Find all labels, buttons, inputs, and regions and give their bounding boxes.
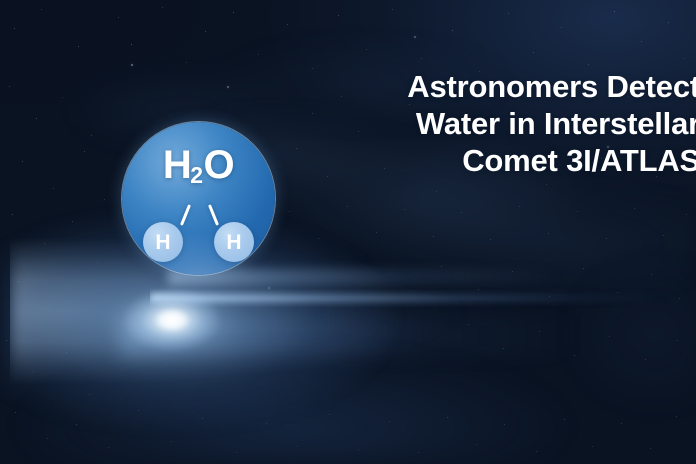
headline-line-3: Comet 3I/ATLAS xyxy=(300,142,696,179)
formula-element-h: H xyxy=(163,143,191,187)
bond-line-right xyxy=(208,204,219,226)
hydrogen-atom-left-label: H xyxy=(155,232,170,253)
page-title: Astronomers Detect Water in Interstellar… xyxy=(300,68,696,179)
bond-line-left xyxy=(180,204,191,226)
comet-tail-streak xyxy=(150,288,696,308)
comet-tail-streak-upper xyxy=(168,269,598,285)
hydrogen-atom-right-label: H xyxy=(226,232,241,253)
formula-subscript-2: 2 xyxy=(190,162,202,188)
comet-tail xyxy=(10,236,696,386)
comet-tail-lower xyxy=(120,316,620,356)
water-molecule-badge: H2O H H xyxy=(122,122,275,275)
formula-element-o: O xyxy=(204,143,235,187)
hydrogen-atom-right: H xyxy=(214,222,254,262)
headline-line-2: Water in Interstellar xyxy=(300,105,696,142)
water-formula: H2O xyxy=(122,145,275,185)
hydrogen-atom-left: H xyxy=(143,222,183,262)
headline-line-1: Astronomers Detect xyxy=(300,68,696,105)
poster-canvas: H2O H H Astronomers Detect Water in Inte… xyxy=(0,0,696,464)
